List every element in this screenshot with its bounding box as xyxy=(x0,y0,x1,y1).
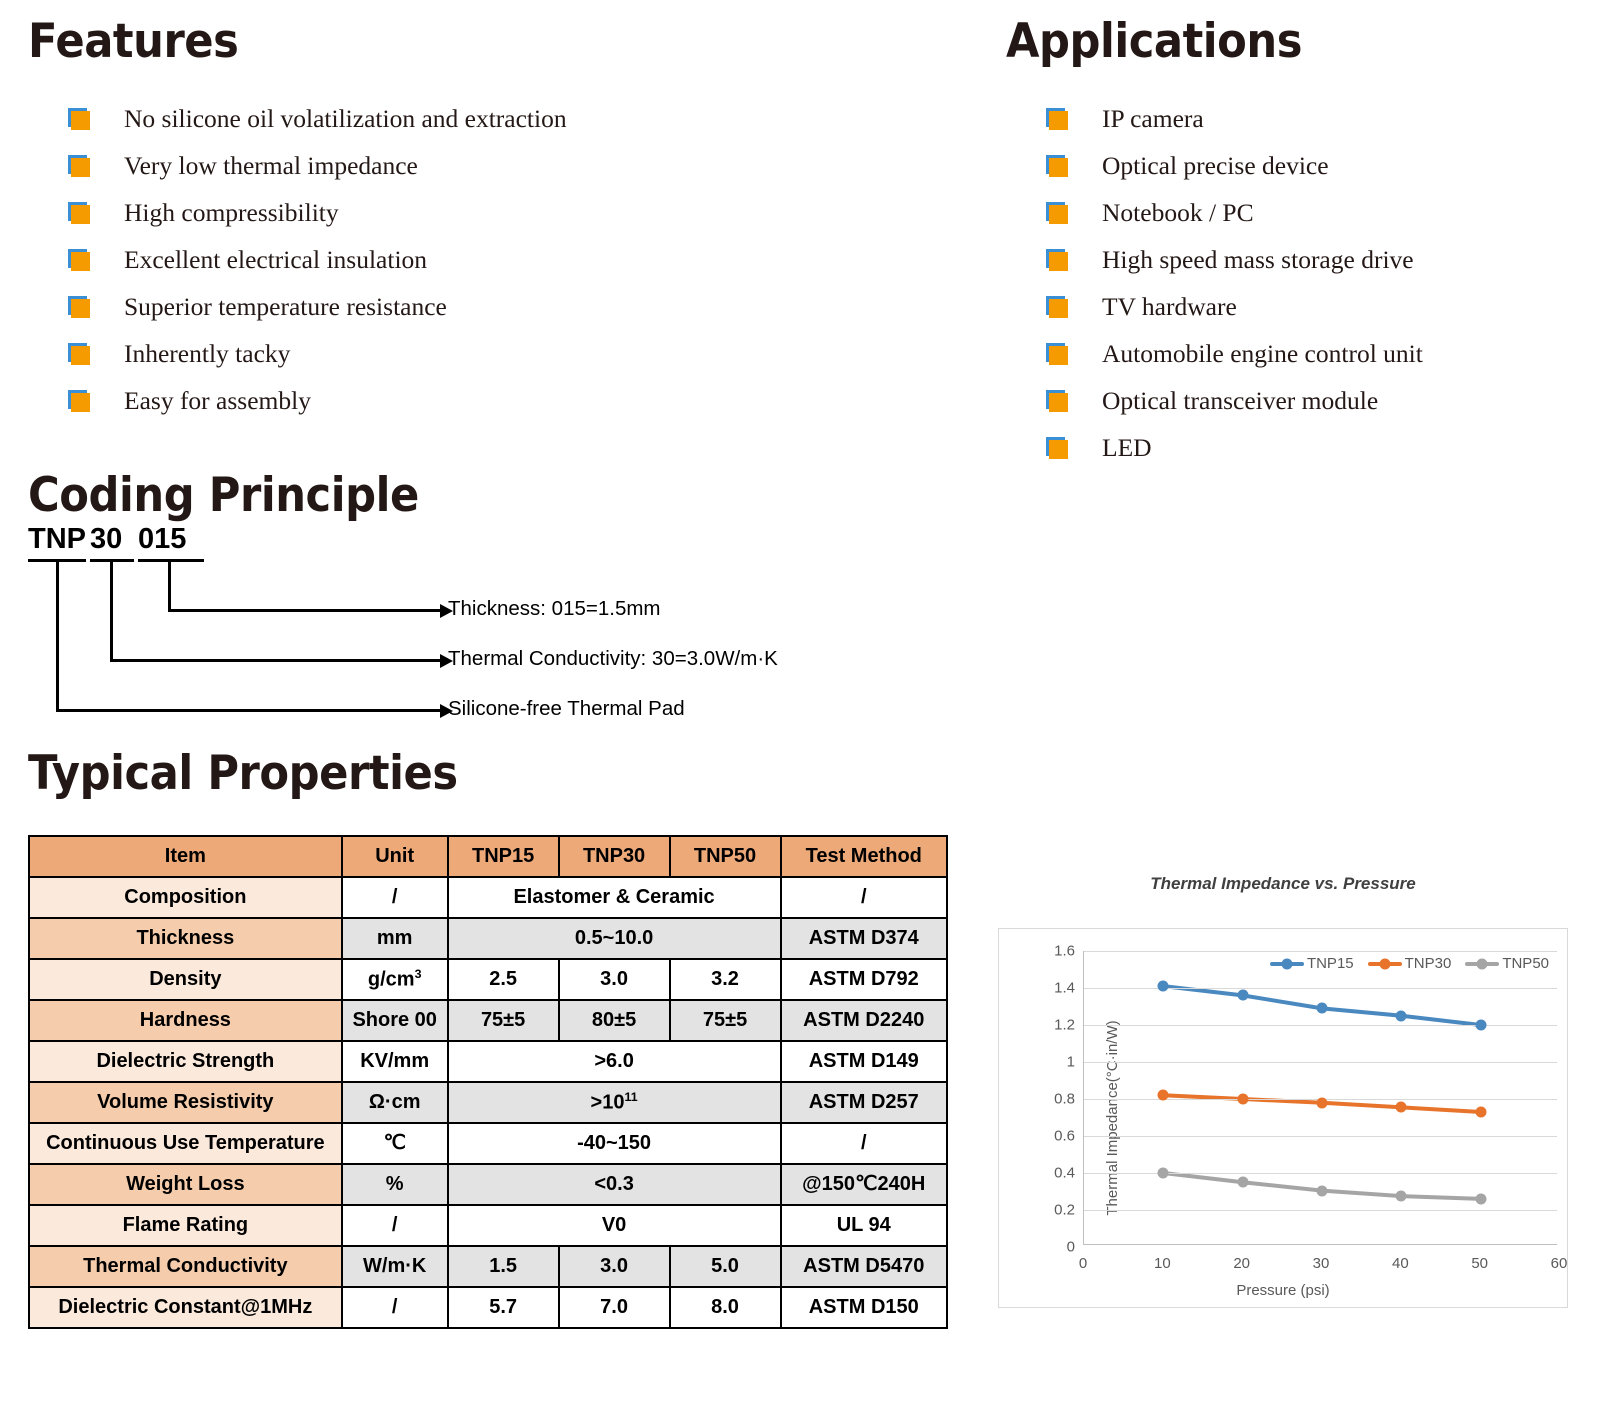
table-cell-value: 5.7 xyxy=(448,1287,559,1328)
chart-gridline xyxy=(1084,1210,1557,1211)
leader-line-horizontal xyxy=(110,659,440,662)
feature-label: No silicone oil volatilization and extra… xyxy=(124,104,567,134)
chart-legend-item: TNP50 xyxy=(1465,955,1549,972)
application-label: IP camera xyxy=(1102,104,1204,134)
thermal-impedance-chart: Thermal Impedance vs. Pressure Thermal I… xyxy=(998,928,1568,1308)
table-cell-test-method: UL 94 xyxy=(781,1205,948,1246)
table-cell-value-merged: 0.5~10.0 xyxy=(448,918,781,959)
table-cell-unit: g/cm3 xyxy=(342,959,448,1000)
chart-data-point xyxy=(1396,1191,1407,1202)
features-section: Features No silicone oil volatilization … xyxy=(28,18,928,424)
application-label: High speed mass storage drive xyxy=(1102,245,1414,275)
chart-x-tick-label: 30 xyxy=(1313,1255,1330,1272)
chart-data-point xyxy=(1317,1185,1328,1196)
list-item: Very low thermal impedance xyxy=(68,142,928,189)
list-item: High compressibility xyxy=(68,189,928,236)
table-column-header: TNP50 xyxy=(670,836,781,877)
bullet-square-icon xyxy=(1046,155,1068,177)
table-cell-value: 3.0 xyxy=(559,959,670,1000)
chart-data-point xyxy=(1158,1090,1169,1101)
table-cell-unit: / xyxy=(342,1287,448,1328)
table-row: Flame Rating/V0UL 94 xyxy=(29,1205,947,1246)
chart-data-point xyxy=(1475,1106,1486,1117)
chart-data-point xyxy=(1158,1168,1169,1179)
table-cell-value-merged: Elastomer & Ceramic xyxy=(448,877,781,918)
list-item: Excellent electrical insulation xyxy=(68,236,928,283)
list-item: Optical precise device xyxy=(1046,142,1586,189)
table-cell-value-merged: V0 xyxy=(448,1205,781,1246)
table-cell-item: Thermal Conductivity xyxy=(29,1246,342,1287)
chart-legend-swatch-icon xyxy=(1270,962,1304,966)
table-cell-item: Dielectric Constant@1MHz xyxy=(29,1287,342,1328)
chart-legend-swatch-icon xyxy=(1465,962,1499,966)
chart-title: Thermal Impedance vs. Pressure xyxy=(999,874,1567,894)
bullet-square-icon xyxy=(1046,390,1068,412)
table-cell-item: Weight Loss xyxy=(29,1164,342,1205)
coding-principle-heading: Coding Principle xyxy=(28,472,856,519)
table-cell-value: 8.0 xyxy=(670,1287,781,1328)
features-heading: Features xyxy=(28,18,856,65)
chart-data-point xyxy=(1317,1003,1328,1014)
table-cell-item: Composition xyxy=(29,877,342,918)
table-cell-test-method: / xyxy=(781,1123,948,1164)
table-cell-value: 5.0 xyxy=(670,1246,781,1287)
chart-gridline xyxy=(1084,1173,1557,1174)
chart-x-tick-label: 0 xyxy=(1079,1255,1087,1272)
table-cell-item: Dielectric Strength xyxy=(29,1041,342,1082)
chart-y-tick-label: 1.4 xyxy=(1035,980,1075,997)
table-cell-test-method: ASTM D792 xyxy=(781,959,948,1000)
applications-list: IP cameraOptical precise deviceNotebook … xyxy=(1046,95,1586,471)
feature-label: Very low thermal impedance xyxy=(124,151,418,181)
feature-label: Excellent electrical insulation xyxy=(124,245,427,275)
leader-line-horizontal xyxy=(168,609,440,612)
list-item: TV hardware xyxy=(1046,283,1586,330)
bullet-square-icon xyxy=(68,296,90,318)
chart-legend-label: TNP30 xyxy=(1405,955,1452,972)
table-row: Volume ResistivityΩ·cm>1011ASTM D257 xyxy=(29,1082,947,1123)
table-cell-item: Volume Resistivity xyxy=(29,1082,342,1123)
table-cell-unit: Ω·cm xyxy=(342,1082,448,1123)
applications-heading: Applications xyxy=(1006,18,1540,65)
table-cell-value: 2.5 xyxy=(448,959,559,1000)
chart-y-tick-label: 0.4 xyxy=(1035,1165,1075,1182)
coding-principle-section: Coding Principle TNP30015Thickness: 015=… xyxy=(28,472,928,741)
table-header-row: ItemUnitTNP15TNP30TNP50Test Method xyxy=(29,836,947,877)
list-item: Notebook / PC xyxy=(1046,189,1586,236)
table-cell-unit: / xyxy=(342,877,448,918)
bullet-square-icon xyxy=(68,108,90,130)
table-cell-value-merged: <0.3 xyxy=(448,1164,781,1205)
list-item: Automobile engine control unit xyxy=(1046,330,1586,377)
chart-legend-swatch-icon xyxy=(1368,962,1402,966)
table-cell-value: 7.0 xyxy=(559,1287,670,1328)
table-column-header: Item xyxy=(29,836,342,877)
chart-x-tick-label: 60 xyxy=(1551,1255,1568,1272)
table-cell-item: Density xyxy=(29,959,342,1000)
code-token: 30 xyxy=(90,523,122,556)
application-label: Optical precise device xyxy=(1102,151,1329,181)
leader-line-vertical xyxy=(110,561,113,662)
bullet-square-icon xyxy=(68,155,90,177)
table-cell-value-merged: >1011 xyxy=(448,1082,781,1123)
chart-y-axis-ticks: 00.20.40.60.811.21.41.6 xyxy=(1027,929,1075,1307)
table-cell-value: 75±5 xyxy=(670,1000,781,1041)
table-cell-unit: % xyxy=(342,1164,448,1205)
leader-label: Thermal Conductivity: 30=3.0W/m·K xyxy=(448,647,778,671)
chart-y-tick-label: 1 xyxy=(1035,1054,1075,1071)
bullet-square-icon xyxy=(68,202,90,224)
table-cell-value-merged: -40~150 xyxy=(448,1123,781,1164)
list-item: High speed mass storage drive xyxy=(1046,236,1586,283)
table-cell-test-method: ASTM D149 xyxy=(781,1041,948,1082)
chart-data-point xyxy=(1396,1010,1407,1021)
table-cell-unit: mm xyxy=(342,918,448,959)
application-label: LED xyxy=(1102,433,1152,463)
chart-y-tick-label: 1.6 xyxy=(1035,943,1075,960)
table-cell-value: 3.0 xyxy=(559,1246,670,1287)
applications-section: Applications IP cameraOptical precise de… xyxy=(1006,18,1586,471)
leader-label: Thickness: 015=1.5mm xyxy=(448,597,661,621)
coding-principle-diagram: TNP30015Thickness: 015=1.5mmThermal Cond… xyxy=(28,561,908,741)
bullet-square-icon xyxy=(1046,108,1068,130)
table-cell-item: Flame Rating xyxy=(29,1205,342,1246)
chart-x-tick-label: 20 xyxy=(1233,1255,1250,1272)
bullet-square-icon xyxy=(68,343,90,365)
bullet-square-icon xyxy=(68,390,90,412)
table-cell-item: Thickness xyxy=(29,918,342,959)
table-cell-unit: KV/mm xyxy=(342,1041,448,1082)
table-column-header: TNP30 xyxy=(559,836,670,877)
table-cell-test-method: / xyxy=(781,877,948,918)
table-row: Dielectric StrengthKV/mm>6.0ASTM D149 xyxy=(29,1041,947,1082)
leader-line-horizontal xyxy=(56,709,440,712)
chart-legend: TNP15TNP30TNP50 xyxy=(1270,955,1549,972)
table-cell-item: Continuous Use Temperature xyxy=(29,1123,342,1164)
table-row: HardnessShore 0075±580±575±5ASTM D2240 xyxy=(29,1000,947,1041)
table-cell-unit: Shore 00 xyxy=(342,1000,448,1041)
chart-data-point xyxy=(1396,1102,1407,1113)
bullet-square-icon xyxy=(68,249,90,271)
chart-gridline xyxy=(1084,988,1557,989)
application-label: TV hardware xyxy=(1102,292,1237,322)
code-token-underline xyxy=(138,559,204,562)
chart-legend-label: TNP50 xyxy=(1502,955,1549,972)
table-cell-test-method: ASTM D5470 xyxy=(781,1246,948,1287)
feature-label: Superior temperature resistance xyxy=(124,292,447,322)
table-cell-test-method: ASTM D257 xyxy=(781,1082,948,1123)
table-row: Weight Loss%<0.3@150℃240H xyxy=(29,1164,947,1205)
chart-data-point xyxy=(1475,1020,1486,1031)
table-cell-test-method: ASTM D2240 xyxy=(781,1000,948,1041)
chart-data-point xyxy=(1237,1177,1248,1188)
chart-legend-item: TNP15 xyxy=(1270,955,1354,972)
feature-label: Inherently tacky xyxy=(124,339,290,369)
properties-table: ItemUnitTNP15TNP30TNP50Test Method Compo… xyxy=(28,835,948,1329)
chart-legend-label: TNP15 xyxy=(1307,955,1354,972)
table-column-header: Unit xyxy=(342,836,448,877)
list-item: LED xyxy=(1046,424,1586,471)
table-row: Thermal ConductivityW/m·K1.53.05.0ASTM D… xyxy=(29,1246,947,1287)
table-cell-unit: / xyxy=(342,1205,448,1246)
list-item: Inherently tacky xyxy=(68,330,928,377)
chart-data-point xyxy=(1317,1097,1328,1108)
table-cell-unit: ℃ xyxy=(342,1123,448,1164)
chart-x-tick-label: 50 xyxy=(1471,1255,1488,1272)
chart-y-tick-label: 1.2 xyxy=(1035,1017,1075,1034)
table-cell-item: Hardness xyxy=(29,1000,342,1041)
code-token: TNP xyxy=(28,523,86,556)
table-cell-test-method: ASTM D150 xyxy=(781,1287,948,1328)
table-column-header: Test Method xyxy=(781,836,948,877)
chart-data-point xyxy=(1475,1193,1486,1204)
table-column-header: TNP15 xyxy=(448,836,559,877)
chart-legend-item: TNP30 xyxy=(1368,955,1452,972)
chart-gridline xyxy=(1084,1062,1557,1063)
table-cell-unit: W/m·K xyxy=(342,1246,448,1287)
application-label: Optical transceiver module xyxy=(1102,386,1378,416)
chart-y-tick-label: 0.8 xyxy=(1035,1091,1075,1108)
application-label: Automobile engine control unit xyxy=(1102,339,1423,369)
list-item: Superior temperature resistance xyxy=(68,283,928,330)
typical-properties-heading: Typical Properties xyxy=(28,750,874,797)
chart-gridline xyxy=(1084,1136,1557,1137)
chart-data-point xyxy=(1237,990,1248,1001)
table-cell-value-merged: >6.0 xyxy=(448,1041,781,1082)
chart-y-tick-label: 0 xyxy=(1035,1239,1075,1256)
table-row: Thicknessmm0.5~10.0ASTM D374 xyxy=(29,918,947,959)
typical-properties-section: Typical Properties ItemUnitTNP15TNP30TNP… xyxy=(28,750,948,1329)
leader-line-vertical xyxy=(168,561,171,612)
list-item: IP camera xyxy=(1046,95,1586,142)
table-cell-value: 1.5 xyxy=(448,1246,559,1287)
table-cell-value: 75±5 xyxy=(448,1000,559,1041)
bullet-square-icon xyxy=(1046,249,1068,271)
bullet-square-icon xyxy=(1046,437,1068,459)
table-cell-value: 3.2 xyxy=(670,959,781,1000)
chart-y-tick-label: 0.2 xyxy=(1035,1202,1075,1219)
chart-data-point xyxy=(1158,981,1169,992)
table-cell-test-method: ASTM D374 xyxy=(781,918,948,959)
chart-x-tick-label: 10 xyxy=(1154,1255,1171,1272)
bullet-square-icon xyxy=(1046,343,1068,365)
chart-x-axis-label: Pressure (psi) xyxy=(999,1282,1567,1299)
features-list: No silicone oil volatilization and extra… xyxy=(68,95,928,424)
feature-label: Easy for assembly xyxy=(124,386,311,416)
list-item: Optical transceiver module xyxy=(1046,377,1586,424)
table-cell-value: 80±5 xyxy=(559,1000,670,1041)
code-token: 015 xyxy=(138,523,186,556)
chart-y-tick-label: 0.6 xyxy=(1035,1128,1075,1145)
table-row: Composition/Elastomer & Ceramic/ xyxy=(29,877,947,918)
table-cell-test-method: @150℃240H xyxy=(781,1164,948,1205)
leader-line-vertical xyxy=(56,561,59,712)
list-item: No silicone oil volatilization and extra… xyxy=(68,95,928,142)
list-item: Easy for assembly xyxy=(68,377,928,424)
leader-label: Silicone-free Thermal Pad xyxy=(448,697,685,721)
chart-data-point xyxy=(1237,1094,1248,1105)
table-row: Dielectric Constant@1MHz/5.77.08.0ASTM D… xyxy=(29,1287,947,1328)
application-label: Notebook / PC xyxy=(1102,198,1254,228)
bullet-square-icon xyxy=(1046,202,1068,224)
bullet-square-icon xyxy=(1046,296,1068,318)
chart-gridline xyxy=(1084,951,1557,952)
chart-x-tick-label: 40 xyxy=(1392,1255,1409,1272)
table-body: Composition/Elastomer & Ceramic/Thicknes… xyxy=(29,877,947,1328)
chart-plot-area: TNP15TNP30TNP50 xyxy=(1083,951,1557,1245)
table-row: Densityg/cm32.53.03.2ASTM D792 xyxy=(29,959,947,1000)
feature-label: High compressibility xyxy=(124,198,339,228)
table-row: Continuous Use Temperature℃-40~150/ xyxy=(29,1123,947,1164)
